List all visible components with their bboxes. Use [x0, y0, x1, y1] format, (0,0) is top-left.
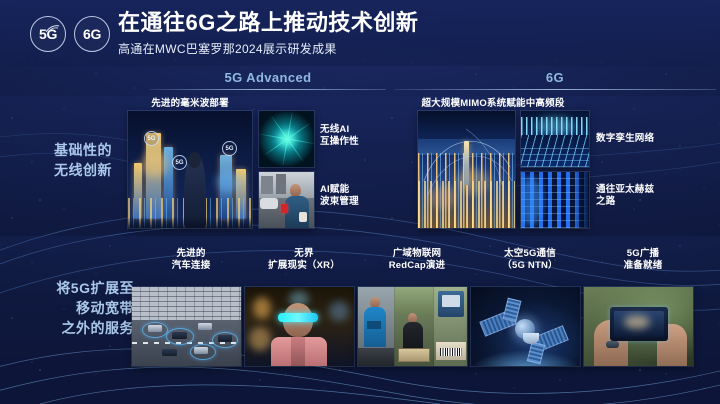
caption-boundless-xr: 无界 扩展现实（XR） [245, 248, 363, 272]
scene-street-woman-red-phone [259, 172, 314, 228]
page-title: 在通往6G之路上推动技术创新 [118, 10, 418, 36]
column-rule-5g-advanced [150, 89, 386, 90]
row-label-foundational: 基础性的 无线创新 [54, 140, 136, 180]
caption-path-to-sub-terahertz: 通往亚太赫兹 之路 [596, 184, 706, 208]
logo-badges: 5G 6G [30, 16, 110, 52]
card-wide-area-iot-redcap[interactable] [358, 287, 467, 366]
slide-canvas: 5G 6G 在通往6G之路上推动技术创新 高通在MWC巴塞罗那2024展示研发成… [0, 0, 720, 404]
caption-advanced-automotive: 先进的 汽车连接 [132, 248, 250, 272]
page-subtitle: 高通在MWC巴塞罗那2024展示研发成果 [118, 40, 418, 57]
card-5g-ntn-space[interactable] [471, 287, 580, 366]
card-ai-beam-management[interactable] [259, 172, 314, 228]
caption-wide-area-iot-redcap: 广域物联网 RedCap演进 [358, 248, 476, 272]
card-boundless-xr[interactable] [245, 287, 354, 366]
row-label-line: 无线创新 [54, 160, 136, 180]
wifi-swoosh-icon [45, 25, 60, 33]
row-label-line: 之外的服务 [26, 318, 134, 338]
scene-hands-holding-phone-video [584, 287, 693, 366]
badge-6g-label: 6G [83, 26, 101, 42]
scene-blue-datacenter-racks [521, 172, 589, 228]
card-massive-mimo-mid-high-band[interactable] [418, 111, 515, 228]
card-digital-twin-network[interactable] [521, 111, 589, 167]
caption-5g-ntn: 太空5G通信 （5G NTN） [471, 248, 589, 272]
caption-mmwave-deployment: 先进的毫米波部署 [128, 98, 252, 110]
row-label-line: 将5G扩展至 [26, 278, 134, 298]
badge-5g-in-image: 5G [172, 155, 187, 170]
scene-woman-ar-glasses [245, 287, 354, 366]
card-path-to-sub-terahertz[interactable] [521, 172, 589, 228]
caption-5g-broadcast-ready: 5G广播 准备就绪 [584, 248, 702, 272]
scene-satellite-in-space [471, 287, 580, 366]
column-header-5g-advanced: 5G Advanced [150, 70, 386, 85]
card-5g-broadcast-ready[interactable] [584, 287, 693, 366]
row-label-line: 基础性的 [54, 140, 136, 160]
card-advanced-automotive-connectivity[interactable] [132, 287, 241, 366]
caption-ai-beam-management: AI赋能 波束管理 [320, 184, 390, 208]
caption-massive-mimo: 超大规模MIMO系统赋能中高频段 [398, 98, 588, 110]
scene-night-city-woman-phone: 5G 5G 5G [128, 111, 252, 228]
badge-5g-in-image: 5G [222, 141, 237, 156]
row-label-beyond-mbb: 将5G扩展至 移动宽带 之外的服务 [26, 278, 134, 338]
scene-digital-twin-city [521, 111, 589, 167]
column-rule-6g [394, 89, 716, 90]
card-mmwave-deployment[interactable]: 5G 5G 5G [128, 111, 252, 228]
scene-city-intersection-cars [132, 287, 241, 366]
badge-5g: 5G [30, 16, 66, 52]
header-titles: 在通往6G之路上推动技术创新 高通在MWC巴塞罗那2024展示研发成果 [118, 10, 418, 57]
badge-6g: 6G [74, 16, 110, 52]
column-header-6g: 6G [394, 70, 716, 85]
scene-teal-neural-burst [259, 111, 314, 167]
caption-wireless-ai-interoperability: 无线AI 互操作性 [320, 124, 390, 148]
mimo-beam-arcs [418, 111, 515, 228]
scene-iot-wearable-logistics [358, 287, 467, 366]
slide-header: 5G 6G 在通往6G之路上推动技术创新 高通在MWC巴塞罗那2024展示研发成… [0, 0, 720, 66]
card-wireless-ai-interoperability[interactable] [259, 111, 314, 167]
caption-digital-twin-network: 数字孪生网络 [596, 133, 706, 145]
scene-hong-kong-harbour-aerial [418, 111, 515, 228]
badge-5g-in-image: 5G [144, 131, 159, 146]
row-label-line: 移动宽带 [26, 298, 134, 318]
